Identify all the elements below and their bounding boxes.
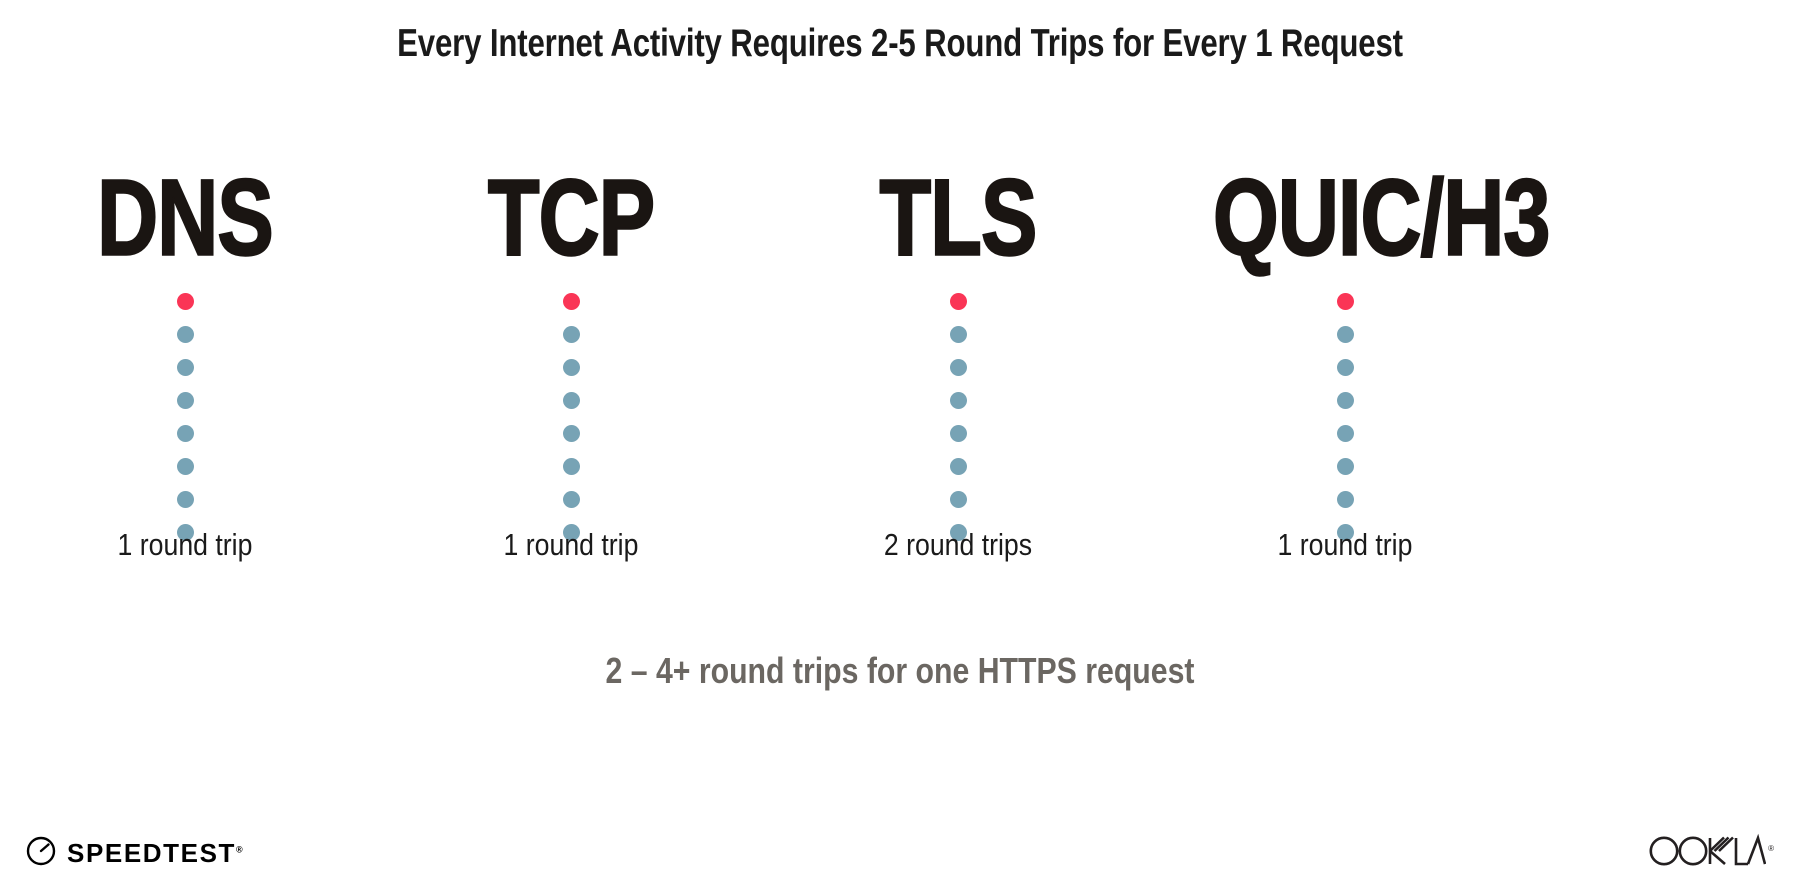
dot-hop — [563, 326, 580, 343]
round-trip-dots-quic-h3 — [1195, 293, 1495, 541]
dot-hop — [1337, 392, 1354, 409]
dot-hop — [177, 392, 194, 409]
dot-hop — [950, 326, 967, 343]
protocol-caption-dns: 1 round trip — [56, 527, 314, 563]
infographic-canvas: Every Internet Activity Requires 2-5 Rou… — [0, 0, 1800, 895]
dot-hop — [177, 425, 194, 442]
dot-hop — [1337, 326, 1354, 343]
protocol-column-dns: DNS 1 round trip — [35, 165, 335, 261]
dot-hop — [1337, 359, 1354, 376]
protocol-header-tls: TLS — [826, 165, 1090, 273]
dot-hop — [563, 359, 580, 376]
dot-hop — [1337, 458, 1354, 475]
protocol-caption-tls: 2 round trips — [829, 527, 1087, 563]
speedtest-wordmark: SPEEDTEST® — [67, 838, 243, 869]
dot-hop — [563, 392, 580, 409]
protocol-column-quic-h3: QUIC/H3 1 round trip — [1195, 165, 1495, 261]
protocol-column-tls: TLS 2 round trips — [808, 165, 1108, 261]
ookla-logo: ® — [1648, 832, 1774, 873]
dot-hop — [177, 326, 194, 343]
dot-hop — [177, 458, 194, 475]
protocol-columns: DNS 1 round trip TCP — [0, 0, 1800, 895]
dot-hop — [563, 458, 580, 475]
round-trip-dots-tcp — [421, 293, 721, 541]
protocol-caption-quic-h3: 1 round trip — [1216, 527, 1474, 563]
dot-hop — [950, 491, 967, 508]
speedtest-logo: SPEEDTEST® — [26, 836, 243, 871]
round-trip-dots-dns — [35, 293, 335, 541]
summary-text: 2 – 4+ round trips for one HTTPS request — [144, 650, 1656, 692]
protocol-header-tcp: TCP — [439, 165, 703, 273]
dot-request — [1337, 293, 1354, 310]
dot-hop — [950, 458, 967, 475]
speedometer-gauge-icon — [26, 836, 56, 871]
protocol-caption-tcp: 1 round trip — [442, 527, 700, 563]
dot-hop — [950, 392, 967, 409]
dot-request — [563, 293, 580, 310]
dot-hop — [1337, 491, 1354, 508]
ookla-logo-icon — [1648, 832, 1766, 873]
dot-hop — [563, 491, 580, 508]
protocol-header-dns: DNS — [53, 165, 317, 273]
dot-hop — [1337, 425, 1354, 442]
dot-hop — [177, 359, 194, 376]
speedtest-trademark: ® — [236, 844, 243, 854]
dot-hop — [950, 359, 967, 376]
round-trip-dots-tls — [808, 293, 1108, 541]
dot-hop — [177, 491, 194, 508]
dot-hop — [950, 425, 967, 442]
dot-request — [177, 293, 194, 310]
ookla-trademark: ® — [1768, 844, 1774, 853]
protocol-header-quic-h3: QUIC/H3 — [1213, 165, 1477, 273]
dot-hop — [563, 425, 580, 442]
dot-request — [950, 293, 967, 310]
footer: SPEEDTEST® — [0, 805, 1800, 895]
protocol-column-tcp: TCP 1 round trip — [421, 165, 721, 261]
